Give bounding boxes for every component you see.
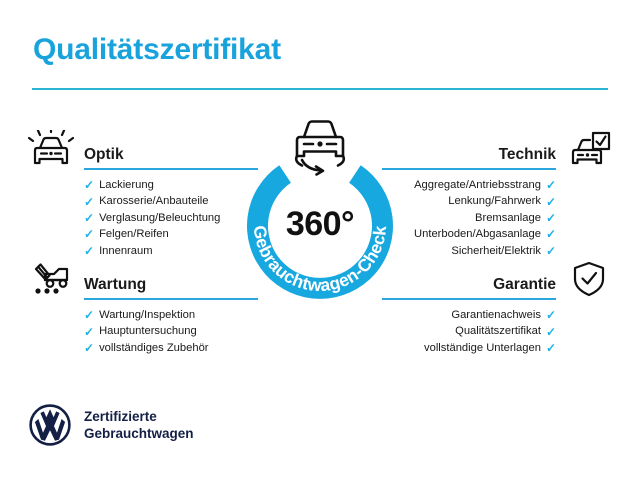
check-icon: ✓ bbox=[546, 245, 556, 257]
list-item-label: Bremsanlage bbox=[475, 210, 541, 226]
section-title-technik: Technik bbox=[499, 146, 556, 164]
section-header-technik: Technik bbox=[382, 128, 612, 172]
section-header-wartung: Wartung bbox=[28, 258, 258, 302]
check-icon: ✓ bbox=[84, 228, 94, 240]
section-header-garantie: Garantie bbox=[382, 258, 612, 302]
badge-360-gebrauchtwagen-check: Gebrauchtwagen-Check 360° bbox=[232, 113, 408, 313]
list-item: ✓Qualitätszertifikat bbox=[382, 323, 612, 339]
list-item: ✓Aggregate/Antriebsstrang bbox=[382, 177, 612, 193]
check-icon: ✓ bbox=[546, 179, 556, 191]
list-item: ✓Garantienachweis bbox=[382, 307, 612, 323]
list-item-label: Garantienachweis bbox=[451, 307, 541, 323]
list-item: ✓Karosserie/Anbauteile bbox=[28, 193, 258, 209]
section-garantie: Garantie ✓Garantienachweis ✓Qualitätszer… bbox=[382, 258, 612, 356]
list-item: ✓Hauptuntersuchung bbox=[28, 323, 258, 339]
list-item-label: Verglasung/Beleuchtung bbox=[99, 210, 220, 226]
check-icon: ✓ bbox=[84, 245, 94, 257]
car-service-pen-icon bbox=[28, 260, 74, 302]
list-item-label: Aggregate/Antriebsstrang bbox=[414, 177, 541, 193]
list-item: ✓vollständiges Zubehör bbox=[28, 340, 258, 356]
list-item-label: Hauptuntersuchung bbox=[99, 323, 197, 339]
list-item: ✓Felgen/Reifen bbox=[28, 226, 258, 242]
section-optik: Optik ✓Lackierung ✓Karosserie/Anbauteile… bbox=[28, 128, 258, 259]
list-item: ✓Lenkung/Fahrwerk bbox=[382, 193, 612, 209]
section-divider-garantie bbox=[382, 298, 556, 300]
list-item-label: Wartung/Inspektion bbox=[99, 307, 195, 323]
badge-degrees-label: 360° bbox=[232, 205, 408, 244]
list-item: ✓Innenraum bbox=[28, 243, 258, 259]
section-technik: Technik ✓Aggregate/Antriebsstrang ✓Lenku… bbox=[382, 128, 612, 259]
footer-brand-text: Zertifizierte Gebrauchtwagen bbox=[84, 408, 194, 442]
shield-check-icon bbox=[566, 260, 612, 302]
list-item: ✓vollständige Unterlagen bbox=[382, 340, 612, 356]
quality-certificate-page: Qualitätszertifikat bbox=[0, 0, 640, 480]
check-icon: ✓ bbox=[84, 342, 94, 354]
car-checkbox-icon bbox=[566, 130, 612, 172]
list-item: ✓Lackierung bbox=[28, 177, 258, 193]
footer-line-2: Gebrauchtwagen bbox=[84, 426, 194, 441]
list-item-label: Sicherheit/Elektrik bbox=[451, 243, 541, 259]
check-icon: ✓ bbox=[84, 196, 94, 208]
list-item: ✓Bremsanlage bbox=[382, 210, 612, 226]
list-item-label: vollständiges Zubehör bbox=[99, 340, 208, 356]
list-item: ✓Wartung/Inspektion bbox=[28, 307, 258, 323]
footer-line-1: Zertifizierte bbox=[84, 409, 157, 424]
check-icon: ✓ bbox=[84, 212, 94, 224]
section-divider-technik bbox=[382, 168, 556, 170]
check-icon: ✓ bbox=[84, 309, 94, 321]
checklist-technik: ✓Aggregate/Antriebsstrang ✓Lenkung/Fahrw… bbox=[382, 172, 612, 259]
section-wartung: Wartung ✓Wartung/Inspektion ✓Hauptunters… bbox=[28, 258, 258, 356]
list-item-label: Felgen/Reifen bbox=[99, 226, 169, 242]
title-divider bbox=[32, 88, 608, 90]
check-icon: ✓ bbox=[546, 342, 556, 354]
check-icon: ✓ bbox=[84, 326, 94, 338]
checklist-garantie: ✓Garantienachweis ✓Qualitätszertifikat ✓… bbox=[382, 302, 612, 356]
list-item: ✓Sicherheit/Elektrik bbox=[382, 243, 612, 259]
footer-brand: Zertifizierte Gebrauchtwagen bbox=[29, 404, 194, 446]
check-icon: ✓ bbox=[546, 326, 556, 338]
vw-logo-icon bbox=[29, 404, 71, 446]
list-item-label: Lackierung bbox=[99, 177, 154, 193]
list-item-label: Unterboden/Abgasanlage bbox=[414, 226, 541, 242]
check-icon: ✓ bbox=[546, 212, 556, 224]
list-item: ✓Unterboden/Abgasanlage bbox=[382, 226, 612, 242]
list-item-label: Qualitätszertifikat bbox=[455, 323, 541, 339]
list-item: ✓Verglasung/Beleuchtung bbox=[28, 210, 258, 226]
section-header-optik: Optik bbox=[28, 128, 258, 172]
check-icon: ✓ bbox=[84, 179, 94, 191]
list-item-label: Lenkung/Fahrwerk bbox=[448, 193, 541, 209]
check-icon: ✓ bbox=[546, 196, 556, 208]
list-item-label: Innenraum bbox=[99, 243, 153, 259]
list-item-label: vollständige Unterlagen bbox=[424, 340, 541, 356]
checklist-optik: ✓Lackierung ✓Karosserie/Anbauteile ✓Verg… bbox=[28, 172, 258, 259]
section-title-garantie: Garantie bbox=[493, 276, 556, 294]
list-item-label: Karosserie/Anbauteile bbox=[99, 193, 208, 209]
check-icon: ✓ bbox=[546, 228, 556, 240]
section-title-wartung: Wartung bbox=[84, 276, 146, 294]
car-shine-icon bbox=[28, 130, 74, 172]
checklist-wartung: ✓Wartung/Inspektion ✓Hauptuntersuchung ✓… bbox=[28, 302, 258, 356]
page-title: Qualitätszertifikat bbox=[33, 33, 281, 67]
section-title-optik: Optik bbox=[84, 146, 124, 164]
check-icon: ✓ bbox=[546, 309, 556, 321]
